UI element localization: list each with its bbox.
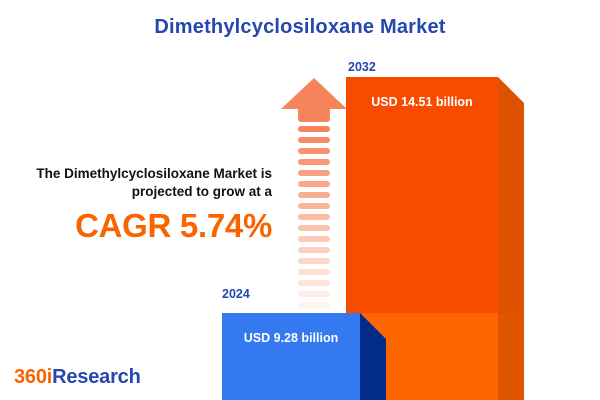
bar-label-2032: 2032 [348,60,376,74]
arrow-segment [298,137,330,143]
arrow-neck [298,108,330,122]
arrow-segment [298,214,330,220]
cagr-callout: The Dimethylcyclosiloxane Market is proj… [10,165,272,245]
arrow-segment [298,148,330,154]
arrow-segment [298,247,330,253]
arrow-head-icon [281,78,347,109]
arrow-segment [298,258,330,264]
arrow-segment [298,236,330,242]
arrow-segment [298,192,330,198]
arrow-segment [298,203,330,209]
bar-value-2024: USD 9.28 billion [222,331,360,345]
arrow-segment [298,170,330,176]
logo-suffix: Research [52,366,140,388]
arrow-segment [298,302,330,308]
page-title: Dimethylcyclosiloxane Market [0,16,600,39]
cagr-lead-line-2: projected to grow at a [10,183,272,201]
infographic-canvas: Dimethylcyclosiloxane Market The Dimethy… [0,0,600,400]
growth-arrow-icon [281,78,347,293]
bar-label-2024: 2024 [222,287,250,301]
logo-prefix: 360i [14,366,52,388]
bar-2032-side-lower-band [498,313,524,400]
brand-logo: 360iResearch [14,366,141,389]
arrow-segment [298,280,330,286]
cagr-value: CAGR 5.74% [10,207,272,245]
arrow-segment [298,126,330,132]
bar-value-2032: USD 14.51 billion [346,95,498,109]
cagr-lead-line-1: The Dimethylcyclosiloxane Market is [10,165,272,183]
bar-2024 [222,313,360,400]
arrow-segment [298,291,330,297]
arrow-segment [298,159,330,165]
arrow-segment [298,181,330,187]
arrow-segment [298,225,330,231]
arrow-segment [298,269,330,275]
